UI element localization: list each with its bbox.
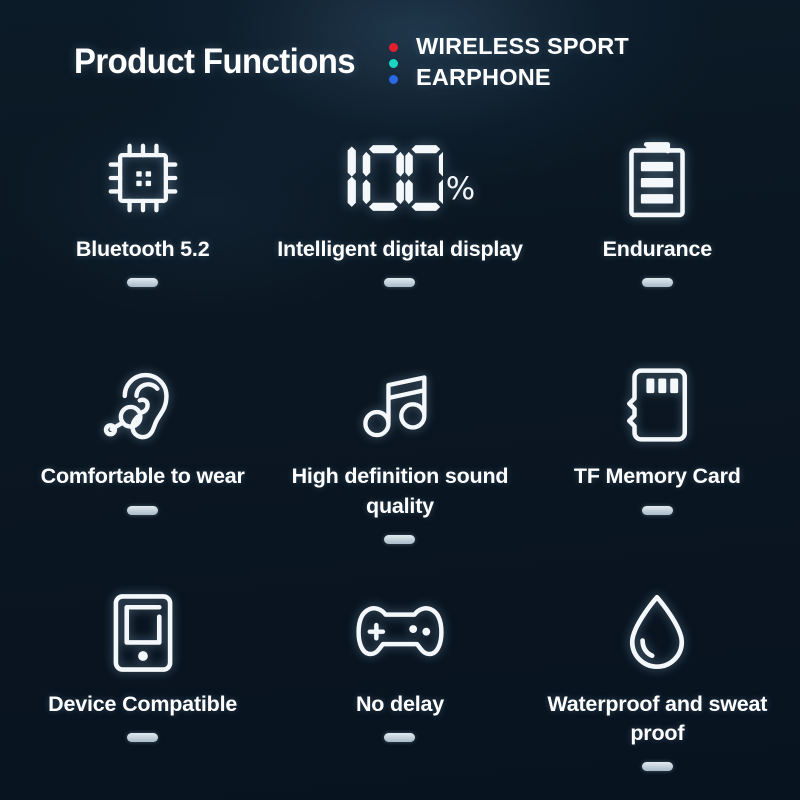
pill-divider bbox=[127, 506, 158, 515]
header-banner: Product Functions WIRELESS SPORT EARPHON… bbox=[0, 0, 800, 118]
dot-cyan-icon bbox=[389, 59, 398, 68]
feature-cell-no-delay: No delay bbox=[271, 573, 528, 800]
feature-label-comfort: Comfortable to wear bbox=[41, 462, 245, 491]
battery-icon bbox=[621, 132, 693, 224]
feature-cell-endurance: Endurance bbox=[529, 118, 786, 345]
feature-cell-digital-display: % Intelligent digital display bbox=[271, 118, 528, 345]
digital-display-100-percent-icon: % bbox=[325, 132, 475, 224]
feature-cell-sound-quality: High definition sound quality bbox=[271, 345, 528, 572]
pill-divider bbox=[127, 733, 158, 742]
percent-symbol: % bbox=[446, 174, 475, 205]
feature-cell-memory-card: TF Memory Card bbox=[529, 345, 786, 572]
feature-cell-comfort: Comfortable to wear bbox=[14, 345, 271, 572]
tablet-device-icon bbox=[105, 587, 181, 679]
page-title: Product Functions bbox=[74, 42, 355, 82]
dot-red-icon bbox=[389, 43, 398, 52]
feature-label-endurance: Endurance bbox=[603, 235, 712, 264]
ear-with-earbud-icon bbox=[102, 359, 184, 451]
feature-grid: Bluetooth 5.2 bbox=[0, 118, 800, 800]
music-note-icon bbox=[360, 359, 440, 451]
gamepad-icon bbox=[354, 587, 446, 679]
dot-blue-icon bbox=[389, 75, 398, 84]
pill-divider bbox=[384, 733, 415, 742]
pill-divider bbox=[384, 278, 415, 287]
water-drop-icon bbox=[624, 587, 690, 679]
feature-cell-bluetooth: Bluetooth 5.2 bbox=[14, 118, 271, 345]
memory-card-icon bbox=[617, 359, 697, 451]
feature-label-memory-card: TF Memory Card bbox=[574, 462, 741, 491]
pill-divider bbox=[642, 278, 673, 287]
chip-icon bbox=[100, 132, 186, 224]
product-functions-infographic: Product Functions WIRELESS SPORT EARPHON… bbox=[0, 0, 800, 800]
pill-divider bbox=[642, 506, 673, 515]
header-subtitle-line-1: WIRELESS SPORT bbox=[416, 31, 629, 62]
pill-divider bbox=[127, 278, 158, 287]
header-dot-separator bbox=[389, 40, 398, 84]
feature-label-no-delay: No delay bbox=[356, 690, 444, 719]
header-subtitle-line-2: EARPHONE bbox=[416, 62, 629, 93]
feature-cell-waterproof: Waterproof and sweat proof bbox=[529, 573, 786, 800]
feature-label-sound-quality: High definition sound quality bbox=[275, 462, 525, 520]
feature-label-device-compatible: Device Compatible bbox=[48, 690, 237, 719]
pill-divider bbox=[642, 762, 673, 771]
header-subtitle: WIRELESS SPORT EARPHONE bbox=[416, 31, 629, 93]
feature-cell-device-compatible: Device Compatible bbox=[14, 573, 271, 800]
pill-divider bbox=[384, 535, 415, 544]
feature-label-digital-display: Intelligent digital display bbox=[277, 235, 522, 264]
feature-label-bluetooth: Bluetooth 5.2 bbox=[76, 235, 210, 264]
feature-label-waterproof: Waterproof and sweat proof bbox=[532, 690, 782, 748]
seven-segment-digits bbox=[325, 145, 443, 211]
